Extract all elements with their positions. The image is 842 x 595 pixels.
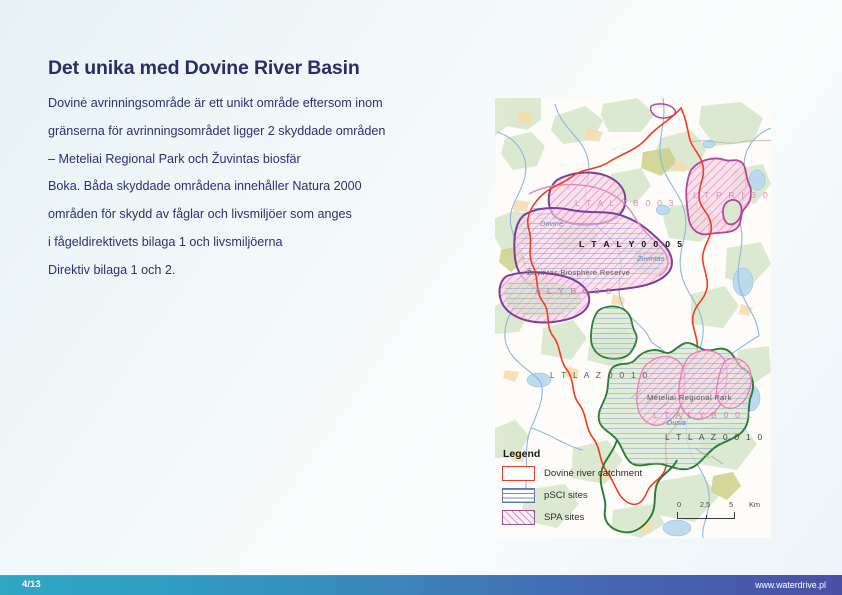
legend-label-catchment: Dovinė river catchment [544,468,642,479]
legend-title: Legend [503,448,702,460]
scalebar-tick-2: 5 [729,500,733,509]
scalebar-bar-icon [677,512,735,519]
legend-item-catchment: Dovinė river catchment [502,466,702,481]
legend-item-psci: pSCI sites [502,488,702,503]
page-title: Det unika med Dovine River Basin [48,57,360,80]
page-number: 4/13 [22,579,41,590]
body-line: – Meteliai Regional Park och Žuvintas bi… [48,146,448,174]
scalebar-tick-1: 2,5 [700,500,710,509]
body-line: gränserna för avrinningsområdet ligger 2… [48,118,448,146]
body-line: i fågeldirektivets bilaga 1 och livsmilj… [48,229,448,257]
legend-swatch-spa-icon [502,510,535,525]
map-scalebar: 0 2,5 5 Km [677,500,757,519]
body-line: Dovinė avrinningsområde är ett unikt omr… [48,90,448,118]
body-line: Direktiv bilaga 1 och 2. [48,257,448,285]
map-figure: L T A L Y B 0 0 3 L T A L Y 0 0 0 5 L T … [495,98,771,538]
legend-swatch-catchment-icon [502,466,535,481]
map-legend: Legend Dovinė river catchment pSCI sites… [502,448,702,532]
footer-url[interactable]: www.waterdrive.pl [755,580,826,590]
body-line: Boka. Båda skyddade områdena innehåller … [48,173,448,201]
slide-canvas: Det unika med Dovine River Basin Dovinė … [0,0,842,595]
legend-swatch-psci-icon [502,488,535,503]
scalebar-tick-0: 0 [677,500,681,509]
body-line: områden för skydd av fåglar och livsmilj… [48,201,448,229]
legend-label-spa: SPA sites [544,512,584,523]
body-paragraph: Dovinė avrinningsområde är ett unikt omr… [48,90,448,285]
footer-bar: 4/13 www.waterdrive.pl [0,576,842,595]
legend-item-spa: SPA sites [502,510,702,525]
legend-label-psci: pSCI sites [544,490,588,501]
scalebar-unit: Km [749,500,760,509]
